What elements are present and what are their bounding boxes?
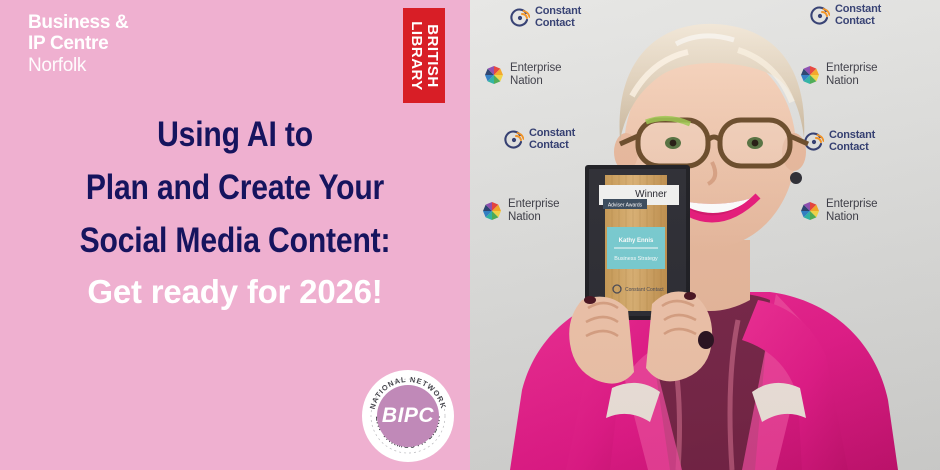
plaque-sponsor: Constant Contact [625, 287, 664, 293]
bipc-wordmark-line3: Norfolk [28, 55, 128, 76]
plaque-winner-label: Winner [635, 189, 667, 200]
event-photo: ConstantContactEnterpriseNationConstantC… [470, 0, 940, 470]
plaque-awards-name: Adviser Awards [608, 203, 643, 209]
headline-line-2: Plan and Create Your [43, 161, 427, 214]
bipc-circular-badge: NATIONAL NETWORK GREAT YARMOUTH LIBRARY … [362, 370, 454, 462]
plaque-recipient: Kathy Ennis [619, 238, 654, 244]
award-plaque: Winner Adviser Awards Kathy Ennis Busine… [585, 165, 690, 320]
british-library-line2: LIBRARY [408, 21, 424, 91]
left-pink-panel: Business & IP Centre Norfolk BRITISH LIB… [0, 0, 470, 470]
headline-line-1: Using AI to [43, 108, 427, 161]
earring [790, 172, 802, 184]
plaque-category: Business Strategy [614, 256, 658, 262]
headline-line-4: Get ready for 2026! [12, 268, 458, 316]
bipc-badge-inner-circle: BIPC [377, 385, 439, 447]
british-library-logo-text: BRITISH LIBRARY [408, 21, 440, 91]
bipc-wordmark-line1: Business & [28, 12, 128, 33]
bipc-wordmark: Business & IP Centre Norfolk [28, 12, 128, 76]
headline-block: Using AI to Plan and Create Your Social … [0, 108, 470, 316]
person-photo [470, 0, 940, 470]
british-library-logo: BRITISH LIBRARY [403, 8, 445, 103]
bipc-wordmark-line2: IP Centre [28, 33, 128, 54]
british-library-line1: BRITISH [424, 21, 440, 91]
bipc-badge-abbreviation: BIPC [377, 404, 439, 428]
headline-line-3: Social Media Content: [43, 214, 427, 267]
event-banner: Business & IP Centre Norfolk BRITISH LIB… [0, 0, 940, 470]
